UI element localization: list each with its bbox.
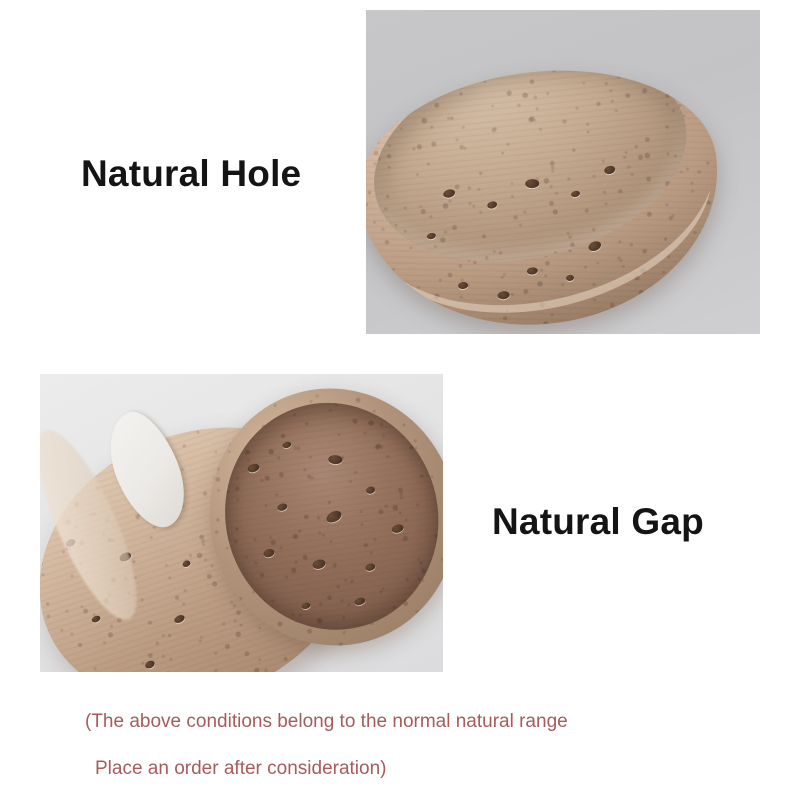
natural-hole-pit <box>91 614 102 623</box>
natural-hole-pit <box>442 188 456 199</box>
natural-hole-label: Natural Hole <box>81 155 301 192</box>
natural-hole-pit <box>277 502 289 511</box>
natural-hole-pit <box>526 267 538 275</box>
natural-hole-pit <box>365 486 376 495</box>
natural-hole-pit <box>426 232 436 240</box>
natural-hole-pit <box>365 562 377 571</box>
stone-bowl-illustration <box>366 32 732 332</box>
natural-hole-pit <box>247 463 261 474</box>
cavity-striae-texture <box>366 51 708 292</box>
disclaimer-graphic: Natural Hole <box>0 0 800 800</box>
natural-hole-pit <box>603 165 616 175</box>
natural-hole-pit <box>566 274 575 281</box>
stone-tube-illustration <box>40 374 443 672</box>
natural-hole-pit <box>354 597 367 607</box>
natural-hole-pit <box>525 179 539 188</box>
natural-hole-pit <box>325 509 344 525</box>
natural-hole-pit <box>328 455 342 464</box>
natural-hole-pit <box>282 441 292 449</box>
natural-hole-pit <box>391 523 405 534</box>
caption-line-1: (The above conditions belong to the norm… <box>85 712 568 731</box>
caption-line-2: Place an order after consideration) <box>95 759 387 778</box>
cavity-grain-texture <box>366 51 708 292</box>
natural-hole-pit <box>301 602 311 610</box>
natural-hole-pit <box>486 200 497 209</box>
bowl-outer-body <box>366 51 734 334</box>
natural-hole-pit <box>263 548 276 559</box>
natural-hole-pit <box>311 558 326 570</box>
natural-hole-pit <box>570 190 580 198</box>
natural-hole-pit <box>182 559 192 568</box>
bowl-inner-cavity <box>366 51 708 292</box>
natural-hole-pit <box>144 659 156 670</box>
natural-gap-label: Natural Gap <box>492 503 704 540</box>
natural-hole-photo <box>366 10 760 334</box>
natural-hole-pit <box>458 281 469 289</box>
natural-gap-photo <box>40 374 443 672</box>
natural-hole-pit <box>173 613 186 624</box>
natural-hole-pit <box>497 290 510 299</box>
